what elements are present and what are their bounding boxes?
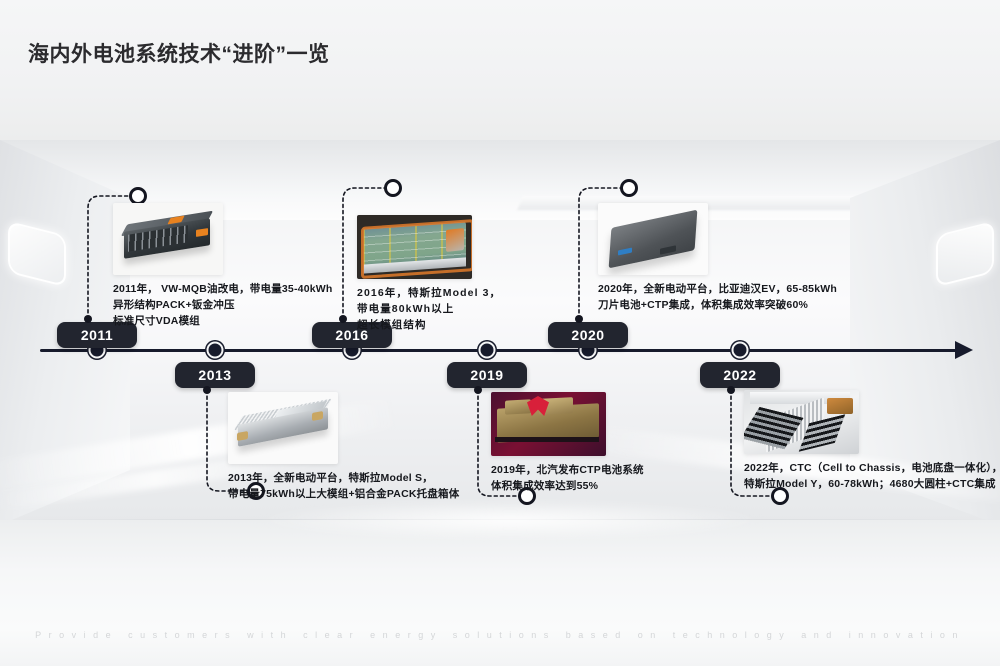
event-card-2019[interactable]: 2019年，北汽发布CTP电池系统 体积集成效率达到55% [491,392,644,494]
event-card-2020[interactable]: 2020年，全新电动平台，比亚迪汉EV，65-85kWh 刀片电池+CTP集成，… [598,203,837,313]
floor-reflection-d [250,500,770,540]
footer-tagline: Provide customers with clear energy solu… [0,630,1000,640]
event-caption-line-2022-1: 2022年，CTC（Cell to Chassis，电池底盘一体化）， [744,461,1000,476]
event-thumbnail-2019 [491,392,606,456]
event-caption-line-2016-1: 2016年，特斯拉Model 3， [357,286,501,301]
event-card-2016[interactable]: 2016年，特斯拉Model 3， 带电量80kWh以上 超长模组结构 [357,215,501,333]
timeline-node-2019[interactable] [479,342,496,359]
page-title: 海内外电池系统技术“进阶”一览 [28,38,330,68]
event-card-2011[interactable]: 2011年， VW-MQB油改电，带电量35-40kWh 异形结构PACK+钣金… [113,203,333,329]
event-caption-line-2011-3: 标准尺寸VDA模组 [113,314,333,329]
event-caption-line-2019-2: 体积集成效率达到55% [491,479,644,494]
connector-dot-2016 [339,315,347,323]
event-thumbnail-2016 [357,215,472,279]
connector-dot-2019 [474,386,482,394]
connector-dot-2020 [575,315,583,323]
event-caption-line-2022-2: 特斯拉Model Y，60-78kWh；4680大圆柱+CTC集成 [744,477,1000,492]
connector-dot-2011 [84,315,92,323]
connector-dot-2022 [727,386,735,394]
event-caption-line-2011-1: 2011年， VW-MQB油改电，带电量35-40kWh [113,282,333,297]
event-caption-line-2011-2: 异形结构PACK+钣金冲压 [113,298,333,313]
connector-dot-2013 [203,386,211,394]
timeline-node-2022[interactable] [732,342,749,359]
event-caption-line-2016-3: 超长模组结构 [357,318,501,333]
event-caption-line-2020-1: 2020年，全新电动平台，比亚迪汉EV，65-85kWh [598,282,837,297]
slide-canvas: 海内外电池系统技术“进阶”一览 2011 2013 2016 2019 2020… [0,0,1000,666]
event-caption-line-2019-1: 2019年，北汽发布CTP电池系统 [491,463,644,478]
connector-ring-2020 [620,179,638,197]
event-caption-line-2016-2: 带电量80kWh以上 [357,302,501,317]
connector-ring-2016 [384,179,402,197]
event-thumbnail-2020 [598,203,708,275]
year-pill-2022[interactable]: 2022 [700,362,780,388]
year-pill-2013[interactable]: 2013 [175,362,255,388]
event-thumbnail-2022 [744,390,859,454]
event-caption-line-2013-2: 带电量75kWh以上大模组+铝合金PACK托盘箱体 [228,487,459,502]
timeline-arrow-icon [955,341,973,359]
timeline-node-2013[interactable] [207,342,224,359]
background-top-band [0,0,1000,140]
year-pill-2019[interactable]: 2019 [447,362,527,388]
event-caption-line-2013-1: 2013年，全新电动平台，特斯拉Model S， [228,471,459,486]
background-floor [0,520,1000,666]
event-card-2013[interactable]: 2013年，全新电动平台，特斯拉Model S， 带电量75kWh以上大模组+铝… [228,392,459,502]
event-caption-line-2020-2: 刀片电池+CTP集成，体积集成效率突破60% [598,298,837,313]
year-pill-2020[interactable]: 2020 [548,322,628,348]
showroom-background [0,0,1000,666]
event-card-2022[interactable]: 2022年，CTC（Cell to Chassis，电池底盘一体化）， 特斯拉M… [744,390,1000,492]
timeline-axis [40,349,960,352]
event-thumbnail-2013 [228,392,338,464]
event-thumbnail-2011 [113,203,223,275]
